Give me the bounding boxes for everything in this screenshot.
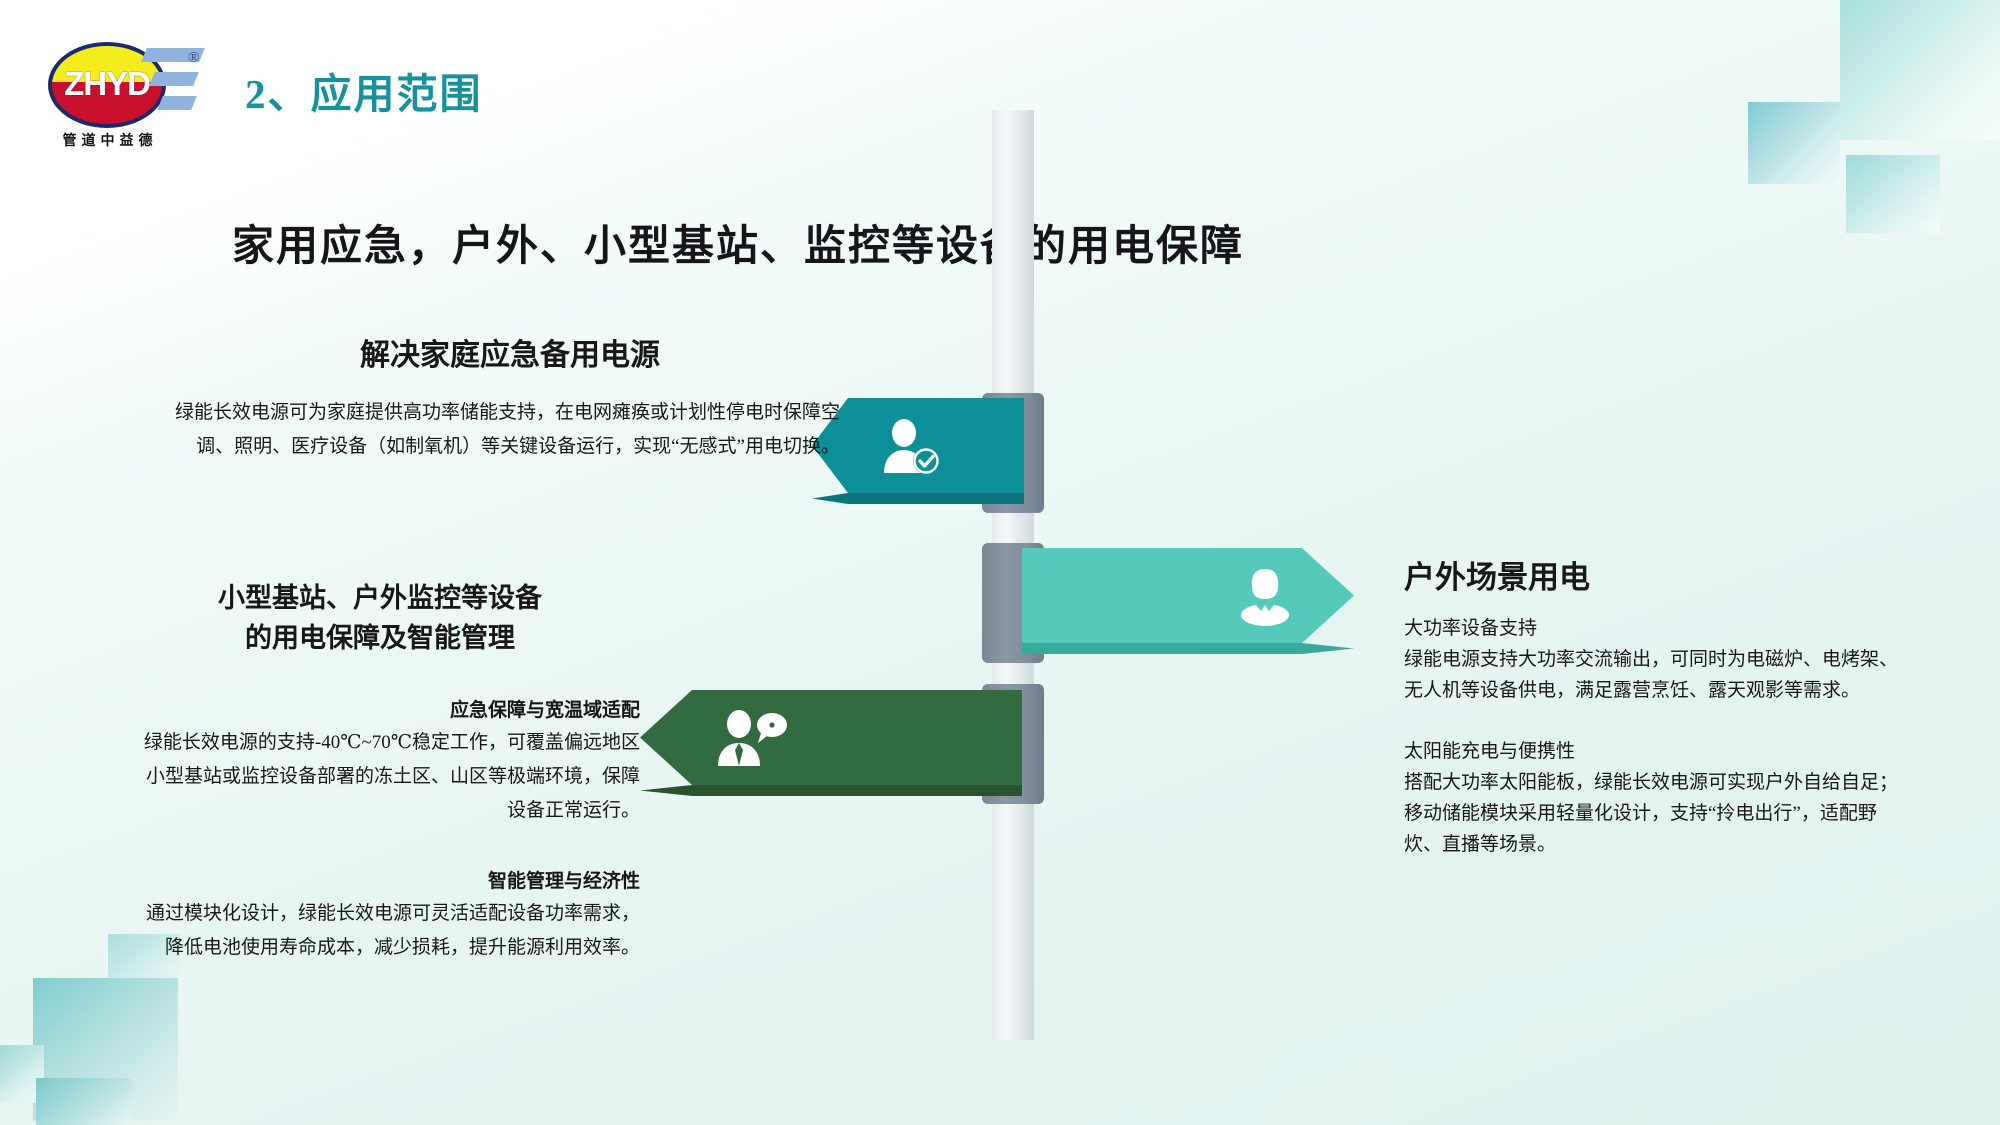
arrow-shadow [812,493,1024,504]
arrow-plate [1022,548,1354,643]
logo-subtitle: 管道中益德 [40,130,180,150]
block-sub2-body: 搭配大功率太阳能板，绿能长效电源可实现户外自给自足；移动储能模块采用轻量化设计，… [1404,767,1904,860]
block-heading-line1: 小型基站、户外监控等设备 [120,578,640,618]
block-emergency-temp: 应急保障与宽温域适配 绿能长效电源的支持-40℃~70℃稳定工作，可覆盖偏远地区… [140,695,640,828]
block-heading: 解决家庭应急备用电源 [140,330,840,374]
decor-square-bottom-left-4 [36,1078,132,1125]
block-smart-management: 智能管理与经济性 通过模块化设计，绿能长效电源可灵活适配设备功率需求，降低电池使… [140,866,640,965]
slide-canvas: ZHYD ® 管道中益德 2、应用范围 家用应急，户外、小型基站、监控等设备的用… [0,0,2000,1125]
block-body: 绿能长效电源的支持-40℃~70℃稳定工作，可覆盖偏远地区小型基站或监控设备部署… [140,726,640,828]
company-logo: ZHYD ® 管道中益德 [40,38,200,143]
block-sub2-heading: 太阳能充电与便携性 [1404,736,1904,767]
arrow-shadow [640,785,1022,796]
person-check-icon [878,417,944,475]
block-spacer [1404,706,1904,736]
person-chat-icon [714,708,788,768]
block-heading: 应急保障与宽温域适配 [140,695,640,722]
arrow-shadow [1022,643,1354,654]
arrow-home-emergency[interactable] [812,398,1024,493]
decor-square-top-right-3 [1846,155,1940,233]
block-heading-line2: 的用电保障及智能管理 [120,618,640,658]
arrow-outdoor[interactable] [1022,548,1354,643]
block-body: 绿能长效电源可为家庭提供高功率储能支持，在电网瘫痪或计划性停电时保障空调、照明、… [140,396,840,464]
arrow-base-station[interactable] [640,690,1022,785]
block-body: 通过模块化设计，绿能长效电源可灵活适配设备功率需求，降低电池使用寿命成本，减少损… [140,897,640,965]
decor-square-bottom-left-1 [33,978,178,1121]
person-female-icon [1234,565,1296,627]
block-sub1-heading: 大功率设备支持 [1404,613,1904,644]
block-heading: 户外场景用电 [1404,552,1904,597]
block-heading: 智能管理与经济性 [140,866,640,893]
arrow-plate [812,398,1024,493]
block-base-station-heading: 小型基站、户外监控等设备 的用电保障及智能管理 [120,578,640,658]
block-home-emergency: 解决家庭应急备用电源 绿能长效电源可为家庭提供高功率储能支持，在电网瘫痪或计划性… [140,330,840,464]
decor-square-bottom-left-3 [0,1045,44,1103]
decor-square-top-right-2 [1748,102,1840,184]
registered-trademark-icon: ® [188,50,199,67]
arrow-plate [640,690,1022,785]
page-title: 家用应急，户外、小型基站、监控等设备的用电保障 [232,212,1244,273]
block-outdoor: 户外场景用电 大功率设备支持 绿能电源支持大功率交流输出，可同时为电磁炉、电烤架… [1404,552,1904,860]
block-sub1-body: 绿能电源支持大功率交流输出，可同时为电磁炉、电烤架、无人机等设备供电，满足露营烹… [1404,644,1904,706]
section-title: 2、应用范围 [245,60,483,120]
decor-square-top-right-1 [1840,0,2000,140]
